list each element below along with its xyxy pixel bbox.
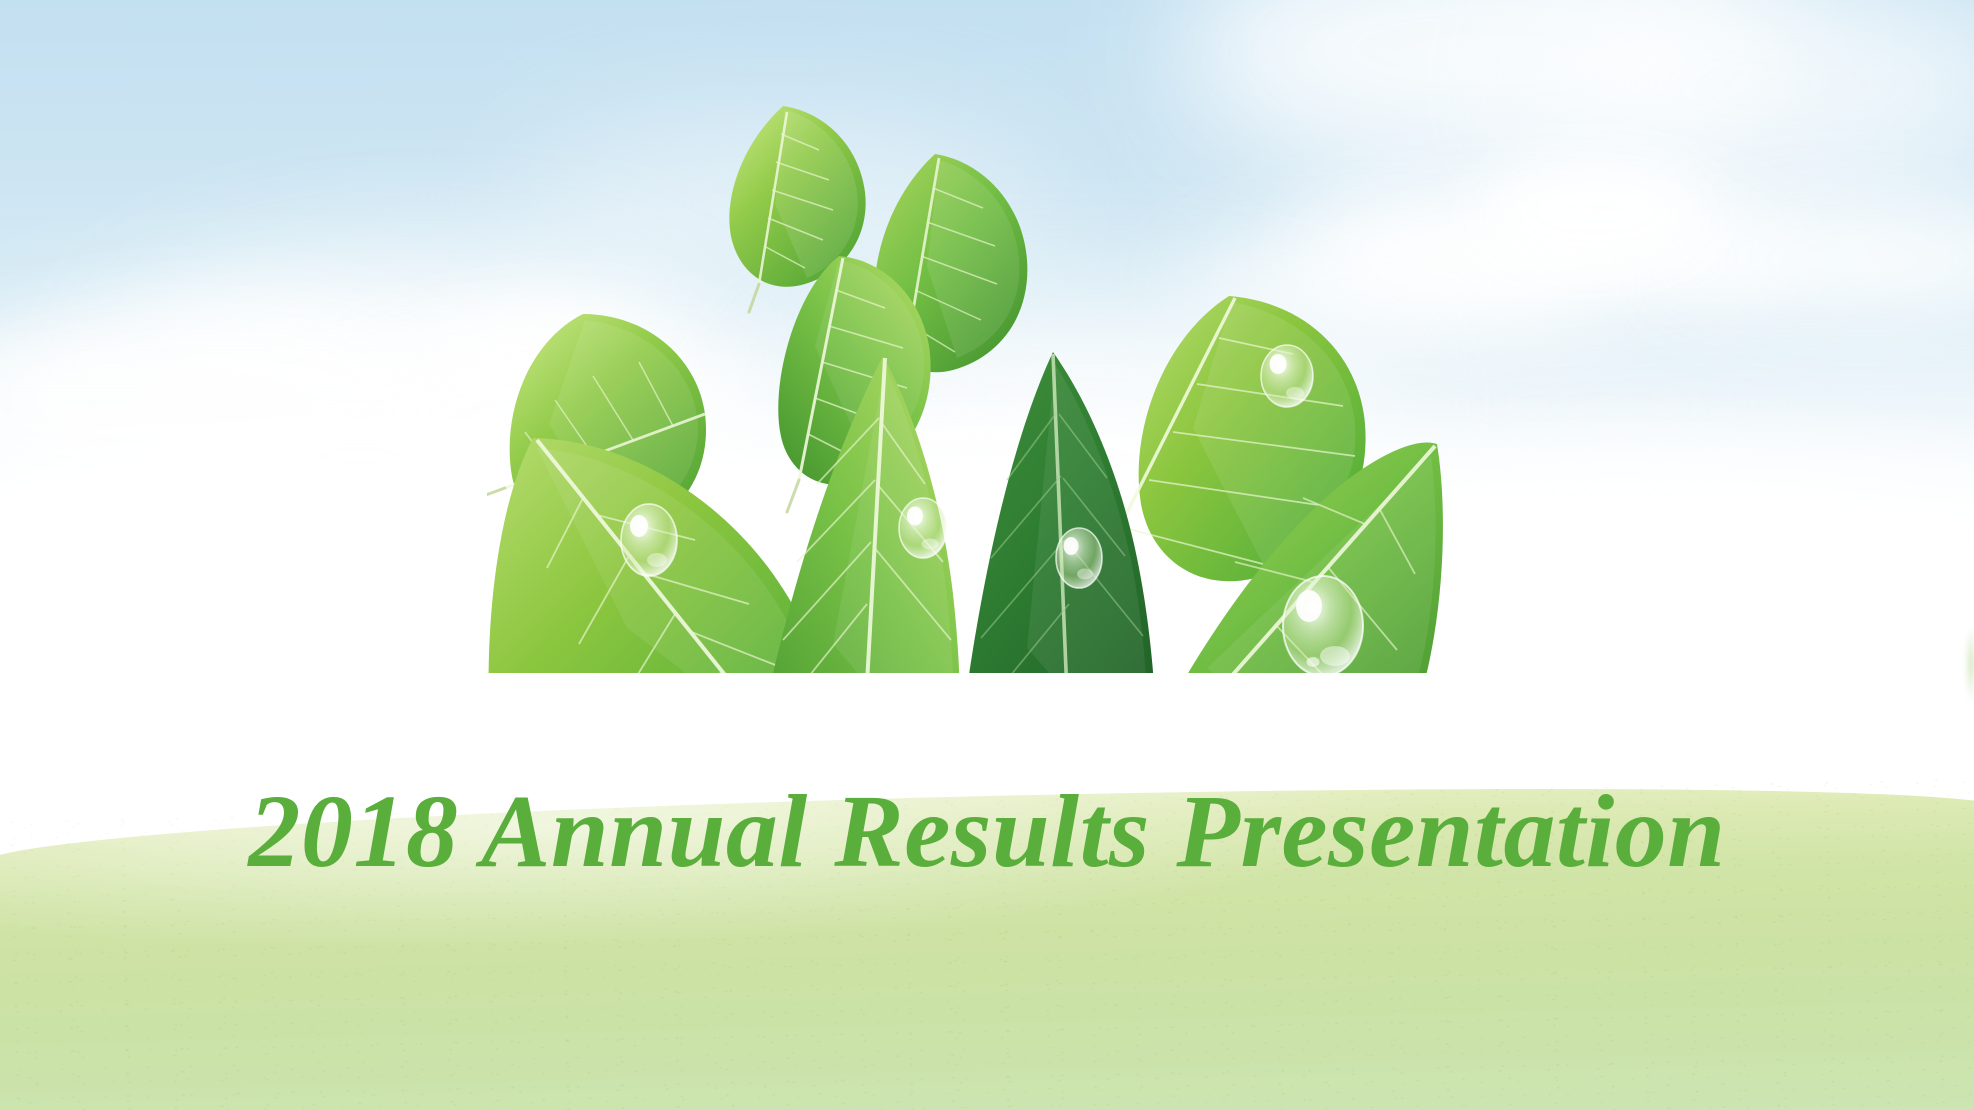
leaf-cluster-artwork — [487, 88, 1487, 673]
droplet-right-big — [1283, 576, 1363, 673]
page-title: 2018 Annual Results Presentation — [0, 780, 1974, 884]
title-slide: 2018 Annual Results Presentation — [0, 0, 1974, 1110]
cloud-icon — [1480, 156, 1710, 266]
droplet-dark — [1056, 528, 1102, 588]
droplet-left — [621, 504, 677, 576]
grass-field — [0, 700, 1974, 1110]
droplet-center-top — [899, 498, 947, 558]
droplet-right-upper — [1261, 345, 1313, 407]
